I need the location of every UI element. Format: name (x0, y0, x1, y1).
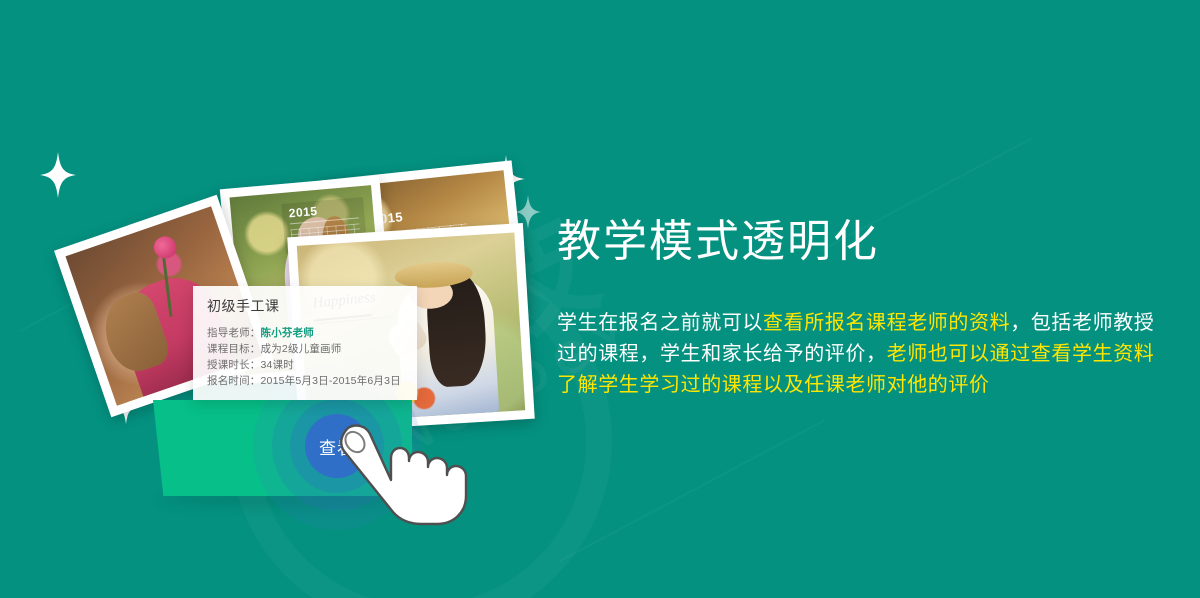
course-teacher-name: 陈小芬老师 (261, 327, 315, 339)
course-row-teacher: 指导老师：陈小芬老师 (207, 325, 403, 341)
page-title: 教学模式透明化 (557, 218, 1169, 266)
calendar-year-front: 2015 (288, 204, 318, 220)
course-row-label: 授课时长： (207, 359, 261, 371)
course-row-enroll-period: 报名时间：2015年5月3日-2015年6月3日 (207, 373, 403, 389)
photo-rose-bloom (151, 233, 179, 261)
course-row-label: 课程目标： (207, 343, 261, 355)
promo-paragraph: 学生在报名之前就可以查看所报名课程老师的资料，包括老师教授过的课程，学生和家长给… (557, 308, 1169, 401)
course-card: 初级手工课 指导老师：陈小芬老师 课程目标：成为2级儿童画师 授课时长：34课时… (193, 286, 417, 400)
paragraph-segment-2: 查看所报名课程老师的资料 (763, 312, 1010, 334)
course-title: 初级手工课 (207, 296, 403, 316)
promo-text-block: 教学模式透明化 学生在报名之前就可以查看所报名课程老师的资料，包括老师教授过的课… (557, 218, 1169, 401)
promo-banner: 科技 NOLOGY 2015 (0, 0, 1200, 598)
course-row-goal: 课程目标：成为2级儿童画师 (207, 341, 403, 357)
course-row-value: 34课时 (261, 359, 294, 371)
course-row-label: 报名时间： (207, 375, 261, 387)
course-row-value: 2015年5月3日-2015年6月3日 (261, 375, 401, 387)
course-row-value: 成为2级儿童画师 (261, 343, 342, 355)
paragraph-segment-1: 学生在报名之前就可以 (557, 312, 763, 334)
course-row-duration: 授课时长：34课时 (207, 357, 403, 373)
course-row-label: 指导老师： (207, 327, 261, 339)
hand-cursor-icon (330, 420, 480, 550)
